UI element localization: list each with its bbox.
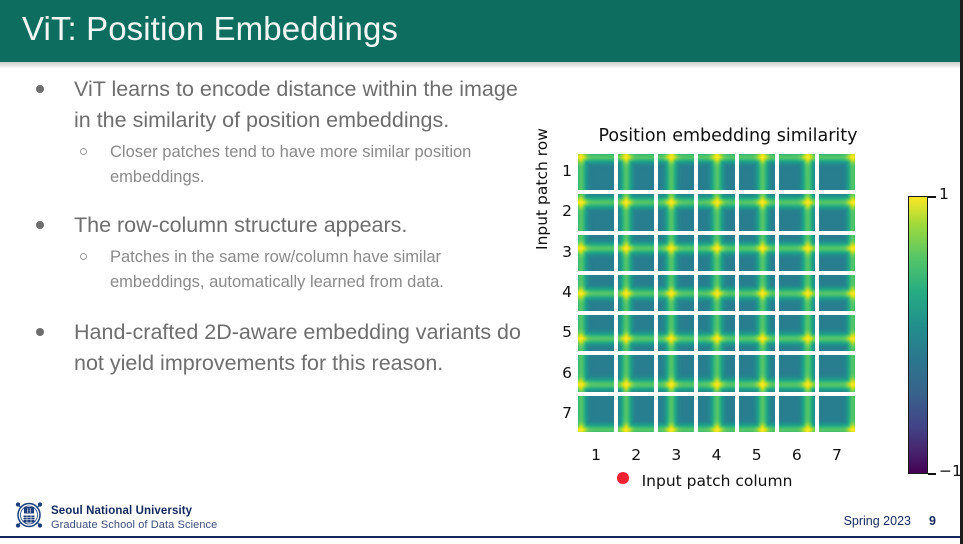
heatmap-tile	[578, 194, 614, 230]
university-name: Seoul National University	[51, 505, 217, 519]
heatmap-tile	[819, 315, 855, 351]
x-tick-label: 3	[668, 446, 684, 464]
heatmap-tile	[739, 275, 775, 311]
school-name: Graduate School of Data Science	[51, 519, 217, 532]
y-tick-label: 3	[556, 243, 572, 261]
sub-bullet-dot-icon	[80, 253, 87, 260]
bullet-content: ViT learns to encode distance within the…	[24, 74, 534, 474]
y-tick-label: 1	[556, 162, 572, 180]
heatmap-tile	[658, 355, 694, 391]
colorbar-tick-max	[928, 196, 936, 198]
page-title: ViT: Position Embeddings	[22, 10, 398, 48]
heatmap-tile	[618, 355, 654, 391]
heatmap-tile	[698, 396, 734, 432]
heatmap-tile	[779, 275, 815, 311]
heatmap-tile	[698, 355, 734, 391]
heatmap-tile	[618, 194, 654, 230]
header-shadow	[0, 62, 963, 69]
heatmap-tile	[658, 235, 694, 271]
bullet-level1: ViT learns to encode distance within the…	[24, 74, 534, 136]
footer-brand: Seoul National University Graduate Schoo…	[51, 505, 217, 532]
x-tick-label: 4	[709, 446, 725, 464]
heatmap-tile	[739, 194, 775, 230]
heatmap-tile	[819, 194, 855, 230]
position-embedding-figure: Position embedding similarity Input patc…	[525, 112, 955, 472]
bullet-level2: Patches in the same row/column have simi…	[24, 245, 534, 295]
heatmap-tile	[578, 154, 614, 190]
heatmap-tile	[739, 396, 775, 432]
sub-bullet-dot-icon	[80, 148, 87, 155]
heatmap-tile	[618, 396, 654, 432]
y-axis-label: Input patch row	[533, 128, 551, 250]
heatmap-tile	[658, 315, 694, 351]
bullet-dot-icon	[36, 221, 44, 229]
heatmap-tile	[698, 194, 734, 230]
y-tick-label: 5	[556, 323, 572, 341]
heatmap-tile	[618, 275, 654, 311]
bullet-group: Hand-crafted 2D-aware embedding variants…	[24, 317, 534, 379]
bullet-level1-text: The row-column structure appears.	[74, 213, 407, 237]
footer-divider	[0, 536, 963, 538]
red-dot-annotation-icon	[617, 472, 629, 484]
colorbar	[908, 196, 928, 474]
heatmap-tile	[739, 315, 775, 351]
heatmap-tile	[578, 315, 614, 351]
x-tick-label: 1	[588, 446, 604, 464]
bullet-level1: Hand-crafted 2D-aware embedding variants…	[24, 317, 534, 379]
heatmap-tile	[819, 235, 855, 271]
y-tick-label: 4	[556, 283, 572, 301]
bullet-level2-text: Closer patches tend to have more similar…	[110, 143, 471, 186]
heatmap-grid	[578, 154, 855, 432]
heatmap-tile	[819, 154, 855, 190]
bullet-level2: Closer patches tend to have more similar…	[24, 140, 534, 190]
heatmap-tile	[658, 396, 694, 432]
x-tick-label: 6	[789, 446, 805, 464]
bullet-level1-text: ViT learns to encode distance within the…	[74, 77, 518, 132]
heatmap-tile	[578, 275, 614, 311]
heatmap-tile	[618, 154, 654, 190]
heatmap-tile	[739, 154, 775, 190]
bullet-level1-text: Hand-crafted 2D-aware embedding variants…	[74, 320, 521, 375]
heatmap-tile	[658, 275, 694, 311]
heatmap-tile	[779, 396, 815, 432]
heatmap-tile	[819, 396, 855, 432]
colorbar-max-label: 1	[939, 185, 949, 203]
heatmap-tile	[578, 235, 614, 271]
snu-crest-logo-icon: H	[12, 500, 46, 530]
heatmap-tile	[779, 315, 815, 351]
colorbar-min-label: −1	[939, 462, 962, 480]
heatmap-axes: Input patch row 1234567 1234567 Input pa…	[578, 154, 855, 432]
bullet-group: The row-column structure appears. Patche…	[24, 210, 534, 295]
heatmap-tile	[779, 355, 815, 391]
bullet-level2-text: Patches in the same row/column have simi…	[110, 248, 444, 291]
colorbar-tick-min	[928, 473, 936, 475]
heatmap-tile	[819, 275, 855, 311]
x-tick-label: 2	[628, 446, 644, 464]
bullet-dot-icon	[36, 328, 44, 336]
heatmap-tile	[819, 355, 855, 391]
page-number: 9	[929, 514, 936, 528]
bullet-level1: The row-column structure appears.	[24, 210, 534, 241]
bullet-group: ViT learns to encode distance within the…	[24, 74, 534, 190]
y-tick-label: 7	[556, 404, 572, 422]
heatmap-tile	[779, 154, 815, 190]
heatmap-tile	[698, 275, 734, 311]
heatmap-tile	[698, 235, 734, 271]
bullet-dot-icon	[36, 85, 44, 93]
x-tick-label: 5	[749, 446, 765, 464]
x-tick-label: 7	[829, 446, 845, 464]
heatmap-tile	[618, 235, 654, 271]
heatmap-tile	[698, 154, 734, 190]
heatmap-tile	[779, 235, 815, 271]
heatmap-tile	[658, 194, 694, 230]
heatmap-tile	[618, 315, 654, 351]
heatmap-tile	[739, 235, 775, 271]
x-axis-label: Input patch column	[601, 472, 833, 490]
y-tick-label: 2	[556, 202, 572, 220]
svg-text:H: H	[27, 509, 32, 515]
figure-title: Position embedding similarity	[568, 126, 888, 146]
slide: ViT: Position Embeddings ViT learns to e…	[0, 0, 963, 544]
heatmap-tile	[698, 315, 734, 351]
heatmap-tile	[779, 194, 815, 230]
heatmap-tile	[739, 355, 775, 391]
heatmap-tile	[578, 355, 614, 391]
heatmap-tile	[658, 154, 694, 190]
term-label: Spring 2023	[844, 514, 911, 528]
heatmap-tile	[578, 396, 614, 432]
y-tick-label: 6	[556, 364, 572, 382]
